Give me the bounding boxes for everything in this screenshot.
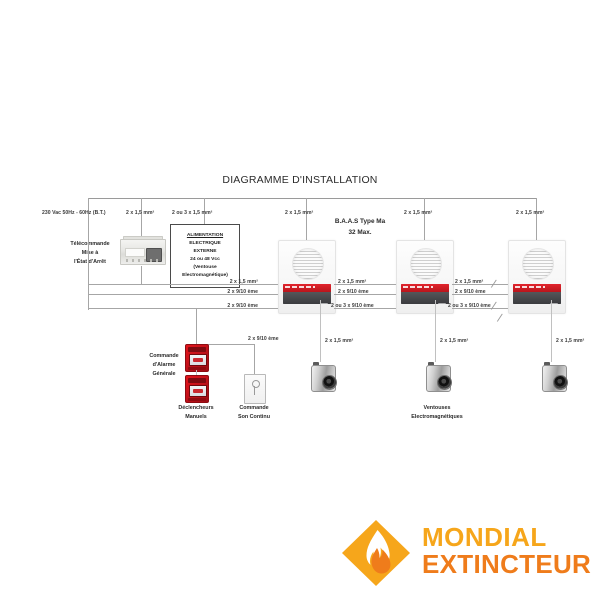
flame-diamond-logo-icon — [340, 518, 412, 588]
baas-unit-1-grey-band — [283, 292, 331, 304]
telecommande-down-tie — [141, 266, 142, 284]
commande-son-continu-device[interactable] — [244, 374, 266, 404]
label-bus-drop-5: 2 x 1,5 mm² — [516, 210, 544, 218]
baas-unit-3-red-band — [513, 284, 561, 292]
drop-to-call-points — [196, 308, 197, 344]
alim-line5: (Ventouse — [182, 264, 228, 272]
declencheurs-line2: Manuels — [168, 413, 224, 422]
manual-call-point-2-header — [188, 378, 206, 383]
drop-to-son-continu — [254, 344, 255, 374]
baas-unit-2-speaker-grille-icon — [410, 248, 442, 280]
baas-header: B.A.A.S Type Ma 32 Max. — [300, 217, 420, 238]
baas-unit-2-grey-band — [401, 292, 449, 304]
din-module-body — [120, 239, 166, 265]
baas-unit-2-red-band — [401, 284, 449, 292]
installation-diagram-canvas: DIAGRAMME D'INSTALLATION 230 Vac 50Hz - … — [0, 0, 600, 600]
baas-unit-1-body — [278, 240, 336, 314]
ventouse-1-wire-label: 2 x 1,5 mm² — [325, 338, 353, 346]
ventouse-magnet-3-body — [542, 365, 567, 392]
baas-header-line2: 32 Max. — [300, 228, 420, 239]
ventouses-label: Ventouses Electromagnétiques — [396, 404, 478, 422]
drop-to-ventouse-1 — [320, 300, 321, 362]
baas-unit-1-logo-icon — [320, 303, 328, 304]
brand-name-line1: MONDIAL — [422, 524, 591, 551]
alim-line2: ELECTRIQUE — [182, 240, 228, 248]
alim-line4: 24 ou 48 Vcc — [182, 256, 228, 264]
baas-unit-2[interactable] — [396, 240, 452, 312]
commande-son-line1: Commande — [226, 404, 282, 413]
baas-unit-2-panel — [401, 284, 449, 304]
alimentation-externe-text: ALIMENTATION ELECTRIQUE EXTERNE 24 ou 48… — [180, 232, 230, 280]
commande-son-label: Commande Son Continu — [226, 404, 282, 422]
loop-label-right-3: 2 ou 3 x 9/10 ème — [448, 303, 491, 311]
telecommande-label: Télécommande Mise à l'État d'Arrêt — [62, 240, 118, 267]
baas-unit-1-speaker-grille-icon — [292, 248, 324, 280]
loop-label-right-2: 2 x 9/10 ème — [455, 289, 486, 297]
baas-header-line1: B.A.A.S Type Ma — [300, 217, 420, 228]
alim-line1: ALIMENTATION — [182, 232, 228, 240]
baas-unit-1-panel — [283, 284, 331, 304]
telecommande-label-line3: l'État d'Arrêt — [62, 258, 118, 267]
label-bus-drop-2: 2 ou 3 x 1,5 mm² — [172, 210, 212, 218]
drop-to-ventouse-3 — [551, 300, 552, 362]
ventouse-magnet-2[interactable] — [423, 362, 449, 390]
telecommande-din-module[interactable] — [120, 236, 164, 266]
loop-left-riser — [88, 240, 89, 310]
commande-alarme-line2: d'Alarme — [136, 361, 192, 370]
ventouse-magnet-2-coil-icon — [437, 375, 452, 390]
baas-unit-2-body — [396, 240, 454, 314]
din-module-terminals — [126, 259, 160, 262]
baas-unit-3[interactable] — [508, 240, 564, 312]
loop-label-mid-3: 2 ou 3 x 9/10 ème — [331, 303, 374, 311]
ventouse-magnet-2-body — [426, 365, 451, 392]
commande-alarme-label: Commande d'Alarme Générale — [136, 352, 192, 379]
baas-unit-3-grey-band — [513, 292, 561, 304]
baas-unit-3-body — [508, 240, 566, 314]
ventouse-magnet-1[interactable] — [308, 362, 334, 390]
manual-call-point-1-glass — [189, 354, 207, 366]
manual-call-point-2[interactable] — [185, 375, 207, 401]
baas-unit-3-brand-text — [515, 286, 545, 288]
ventouse-magnet-1-coil-icon — [322, 375, 337, 390]
label-mains-supply: 230 Vac 50Hz - 60Hz (B.T.) — [42, 210, 106, 218]
baas-unit-1[interactable] — [278, 240, 334, 312]
manual-call-point-1-base — [188, 367, 206, 370]
loop-label-left-1: 2 x 1,5 mm² — [196, 279, 258, 287]
brand-logo: MONDIAL EXTINCTEUR — [340, 518, 590, 588]
brand-name-line2: EXTINCTEUR — [422, 551, 591, 578]
manual-call-point-2-glass — [189, 385, 207, 397]
manual-call-point-2-body — [185, 375, 209, 403]
ventouse-magnet-1-body — [311, 365, 336, 392]
bus-drop-baas-2 — [424, 198, 425, 240]
telecommande-label-line2: Mise à — [62, 249, 118, 258]
continuation-slash-3: / — [496, 312, 503, 324]
baas-unit-2-logo-icon — [438, 303, 446, 304]
page-title: DIAGRAMME D'INSTALLATION — [0, 174, 600, 186]
declencheurs-line1: Déclencheurs — [168, 404, 224, 413]
brand-logo-text: MONDIAL EXTINCTEUR — [422, 524, 591, 579]
loop-label-mid-1: 2 x 1,5 mm² — [338, 279, 366, 287]
telecommande-label-line1: Télécommande — [62, 240, 118, 249]
ventouses-line2: Electromagnétiques — [396, 413, 478, 422]
baas-unit-1-brand-text — [285, 286, 315, 288]
baas-unit-3-panel — [513, 284, 561, 304]
manual-call-point-1-header — [188, 347, 206, 352]
ventouse-3-wire-label: 2 x 1,5 mm² — [556, 338, 584, 346]
commande-son-line2: Son Continu — [226, 413, 282, 422]
label-bus-drop-1: 2 x 1,5 mm² — [126, 210, 154, 218]
baas-unit-2-brand-text — [403, 286, 433, 288]
declencheurs-label: Déclencheurs Manuels — [168, 404, 224, 422]
continuation-slash-2: / — [490, 300, 497, 312]
ventouses-line1: Ventouses — [396, 404, 478, 413]
din-module-label-plate — [125, 248, 145, 257]
bus-drop-baas-3 — [536, 198, 537, 240]
bus-drop-telecommande — [141, 198, 142, 238]
ventouse-magnet-3[interactable] — [539, 362, 565, 390]
ventouse-2-wire-label: 2 x 1,5 mm² — [440, 338, 468, 346]
manual-call-point-2-base — [188, 398, 206, 401]
manual-call-point-1-body — [185, 344, 209, 372]
baas-unit-3-speaker-grille-icon — [522, 248, 554, 280]
commande-alarme-line3: Générale — [136, 370, 192, 379]
bus-drop-mains — [88, 198, 89, 240]
loop-label-mid-2: 2 x 9/10 ème — [338, 289, 369, 297]
son-continu-wire-label: 2 x 9/10 ème — [248, 336, 279, 344]
loop-label-left-3: 2 x 9/10 ème — [196, 303, 258, 311]
loop-label-right-1: 2 x 1,5 mm² — [455, 279, 483, 287]
drop-to-ventouse-2 — [435, 300, 436, 362]
loop-label-left-2: 2 x 9/10 ème — [196, 289, 258, 297]
alim-line3: EXTERNE — [182, 248, 228, 256]
main-bus-line — [88, 198, 536, 199]
commande-alarme-line1: Commande — [136, 352, 192, 361]
ventouse-magnet-3-coil-icon — [553, 375, 568, 390]
baas-unit-1-red-band — [283, 284, 331, 292]
manual-call-point-1[interactable] — [185, 344, 207, 370]
